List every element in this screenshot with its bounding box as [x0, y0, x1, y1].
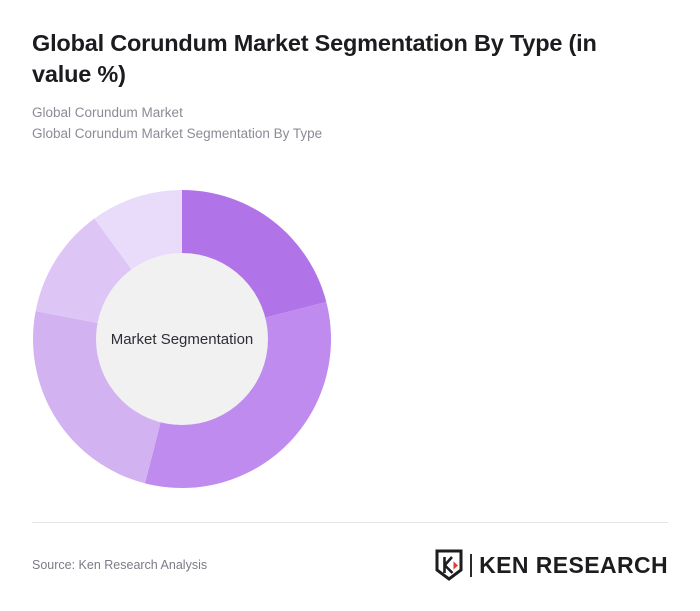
brand-separator	[470, 554, 472, 577]
subtitle-segmentation: Global Corundum Market Segmentation By T…	[32, 124, 652, 145]
subtitle-market: Global Corundum Market	[32, 103, 652, 124]
donut-hole	[96, 253, 268, 425]
ken-research-shield-icon	[435, 549, 463, 581]
chart-header: Global Corundum Market Segmentation By T…	[32, 28, 652, 145]
chart-area: Market Segmentation	[0, 175, 700, 505]
brand-name: KEN RESEARCH	[479, 552, 668, 579]
subtitle-block: Global Corundum Market Global Corundum M…	[32, 103, 652, 145]
page-title: Global Corundum Market Segmentation By T…	[32, 28, 632, 89]
footer-divider	[32, 522, 668, 523]
brand-logo: KEN RESEARCH	[435, 549, 668, 581]
donut-chart: Market Segmentation	[33, 190, 331, 488]
chart-footer: Source: Ken Research Analysis KEN RESEAR…	[32, 545, 668, 585]
donut-svg	[33, 190, 331, 488]
source-text: Source: Ken Research Analysis	[32, 558, 207, 572]
chart-card: Global Corundum Market Segmentation By T…	[0, 0, 700, 611]
